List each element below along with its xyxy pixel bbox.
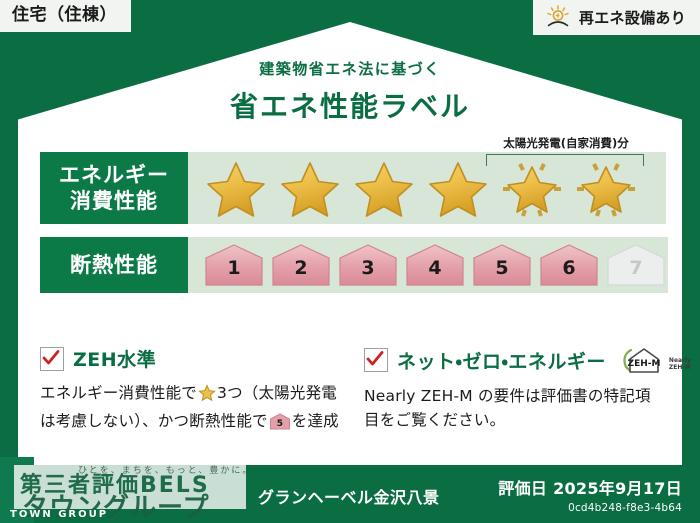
star-rating (202, 155, 640, 221)
energy-performance-label: 住宅（住棟） 再エネ設備あり 建築物省エネ法に基づく 省エネ性能ラベル (0, 0, 700, 523)
insulation-level-number: 1 (202, 257, 266, 279)
label-title-block: 建築物省エネ法に基づく 省エネ性能ラベル (0, 58, 700, 125)
zeh-standard-note: ZEH水準 エネルギー消費性能で3つ（太陽光発電は考慮しない）、かつ断熱性能で5… (40, 345, 342, 437)
insulation-label: 断熱性能 (40, 237, 188, 293)
insulation-level-house: 1 (202, 242, 266, 288)
insulation-level-number: 6 (537, 257, 601, 279)
label-main-title: 省エネ性能ラベル (0, 85, 700, 125)
insulation-level-number: 3 (336, 257, 400, 279)
energy-star-panel: 太陽光発電(自家消費)分 (188, 152, 666, 224)
zeh-standard-header: ZEH水準 (40, 345, 342, 372)
zeh-text-part1: エネルギー消費性能で (40, 384, 197, 402)
solar-star-icon (572, 155, 640, 221)
solar-star-icon (498, 155, 566, 221)
star-icon (424, 155, 492, 221)
property-name: グランヘーベル金沢八景 (258, 484, 440, 508)
insulation-level-house: 4 (403, 242, 467, 288)
net-zero-text: Nearly ZEH-M の要件は評価書の特記項目をご覧ください。 (364, 384, 666, 432)
insulation-level-scale: 1 2 3 (202, 242, 668, 288)
net-zero-title: ネット・ゼロ・エネルギー (397, 347, 606, 374)
energy-label-line2: 消費性能 (70, 189, 158, 213)
label-footer: グランヘーベル金沢八景 評価日 2025年9月17日 0cd4b248-f8e3… (0, 465, 700, 523)
svg-text:5: 5 (277, 419, 283, 429)
label-subtitle: 建築物省エネ法に基づく (0, 58, 700, 79)
renewable-equipment-badge: 再エネ設備あり (533, 0, 700, 35)
house-5-icon: 5 (269, 413, 291, 437)
insulation-level-house: 3 (336, 242, 400, 288)
insulation-level-number: 7 (604, 257, 668, 279)
insulation-level-house: 6 (537, 242, 601, 288)
energy-consumption-label: エネルギー 消費性能 (40, 152, 188, 224)
zeh-m-sublabel-line2: ZEH-M (669, 364, 691, 371)
renewable-badge-label: 再エネ設備あり (579, 7, 686, 28)
star-icon (350, 155, 418, 221)
document-id: 0cd4b248-f8e3-4b64 (498, 502, 682, 514)
sun-icon (545, 5, 571, 29)
performance-rows: エネルギー 消費性能 太陽光発電(自家消費)分 (40, 152, 666, 306)
zeh-m-house-icon: ZEH-M Nearly ZEH-M (621, 345, 691, 375)
insulation-level-number: 2 (269, 257, 333, 279)
evaluation-date: 評価日 2025年9月17日 (498, 475, 682, 499)
net-zero-energy-note: ネット・ゼロ・エネルギー ZEH-M Nearly ZEH-M Nearly Z… (364, 345, 666, 437)
zeh-standard-text: エネルギー消費性能で3つ（太陽光発電は考慮しない）、かつ断熱性能で5を達成 (40, 381, 342, 437)
insulation-performance-row: 断熱性能 1 (40, 237, 666, 293)
zeh-standard-title: ZEH水準 (73, 345, 156, 372)
insulation-scale-panel: 1 2 3 (188, 237, 668, 293)
net-zero-header: ネット・ゼロ・エネルギー ZEH-M Nearly ZEH-M (364, 345, 666, 375)
zeh-text-part3: を達成 (292, 412, 339, 430)
insulation-level-number: 4 (403, 257, 467, 279)
star-icon (198, 384, 216, 409)
insulation-level-house: 2 (269, 242, 333, 288)
energy-label-line1: エネルギー (59, 163, 169, 187)
dwelling-type-tag: 住宅（住棟） (0, 0, 131, 32)
evaluation-info: 評価日 2025年9月17日 0cd4b248-f8e3-4b64 (498, 475, 682, 514)
checkbox-checked-icon (364, 348, 388, 372)
svg-text:ZEH-M: ZEH-M (627, 359, 660, 369)
insulation-level-house-inactive: 7 (604, 242, 668, 288)
solar-portion-caption: 太陽光発電(自家消費)分 (480, 135, 652, 151)
energy-consumption-row: エネルギー 消費性能 太陽光発電(自家消費)分 (40, 152, 666, 224)
star-icon (276, 155, 344, 221)
insulation-level-house: 5 (470, 242, 534, 288)
certification-notes: ZEH水準 エネルギー消費性能で3つ（太陽光発電は考慮しない）、かつ断熱性能で5… (40, 345, 666, 437)
insulation-level-number: 5 (470, 257, 534, 279)
star-icon (202, 155, 270, 221)
checkbox-checked-icon (40, 347, 64, 371)
